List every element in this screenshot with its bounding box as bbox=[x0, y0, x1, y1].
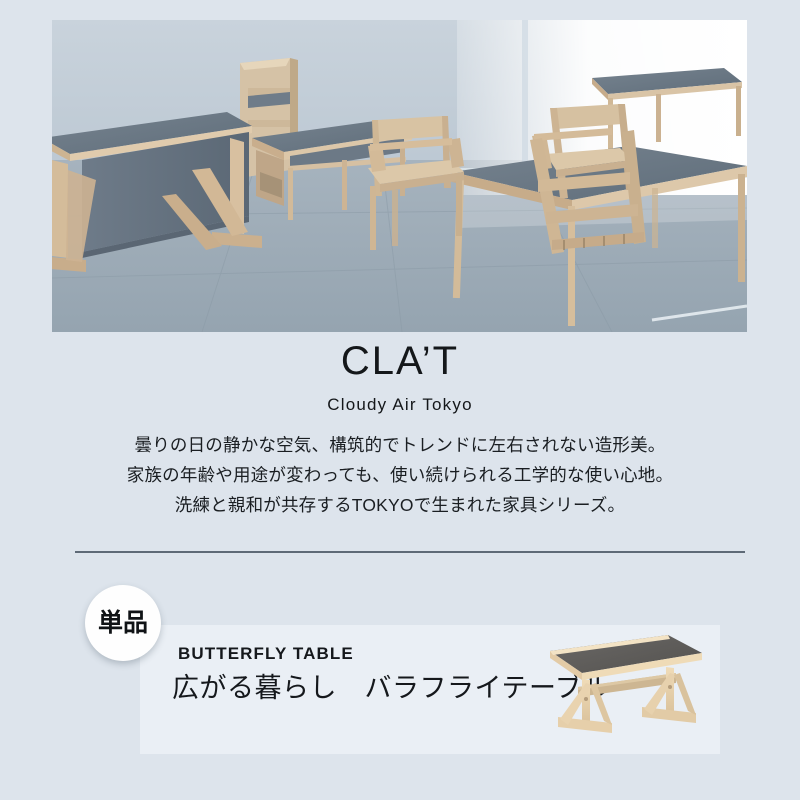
page-title: CLA’T bbox=[0, 341, 800, 381]
product-card[interactable]: BUTTERFLY TABLE 広がる暮らし バラフライテーブル bbox=[140, 625, 720, 754]
description-line-3: 洗練と親和が共存するTOKYOで生まれた家具シリーズ。 bbox=[0, 490, 800, 520]
hero-scene-illustration bbox=[52, 20, 747, 332]
description-line-1: 曇りの日の静かな空気、構筑的でトレンドに左右されない造形美。 bbox=[0, 430, 800, 460]
hero-furniture-photo bbox=[52, 20, 747, 332]
butterfly-table-thumbnail bbox=[520, 617, 720, 754]
description-line-2: 家族の年齢や用途が変わっても、使い続けられる工学的な使い心地。 bbox=[0, 460, 800, 490]
status-badge-label: 単品 bbox=[98, 611, 148, 636]
page-subtitle: Cloudy Air Tokyo bbox=[0, 396, 800, 413]
section-divider bbox=[75, 551, 745, 553]
status-badge: 単品 bbox=[85, 585, 161, 661]
product-landing-page: CLA’T Cloudy Air Tokyo 曇りの日の静かな空気、構筑的でトレ… bbox=[0, 0, 800, 800]
product-card-eyebrow: BUTTERFLY TABLE bbox=[178, 645, 354, 662]
series-description: 曇りの日の静かな空気、構筑的でトレンドに左右されない造形美。 家族の年齢や用途が… bbox=[0, 430, 800, 520]
butterfly-table-thumbnail-illustration bbox=[520, 617, 720, 754]
